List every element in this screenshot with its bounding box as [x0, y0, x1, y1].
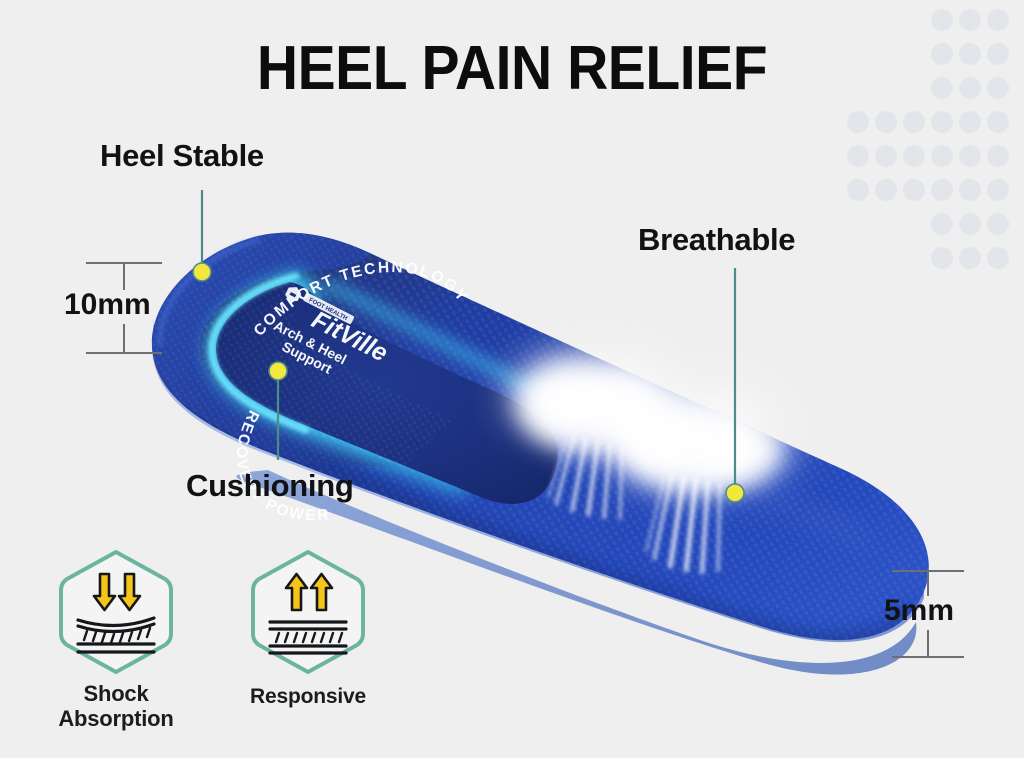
heel-cup-glow	[208, 272, 506, 494]
feature-caption-line-2: Absorption	[36, 707, 196, 732]
vapor-overspill	[530, 358, 776, 456]
callout-label-heel-stable: Heel Stable	[100, 138, 264, 174]
insole-badge-bar	[303, 292, 355, 325]
feature-responsive: Responsive	[228, 548, 388, 709]
callout-label-cushioning: Cushioning	[186, 468, 353, 504]
feature-shock-absorption: Shock Absorption	[36, 548, 196, 731]
dimension-value-forefoot: 5mm	[884, 594, 954, 628]
heel-cup-glow-edge	[212, 276, 306, 430]
dimension-value-heel: 10mm	[64, 288, 151, 322]
feature-caption-line-1: Responsive	[228, 685, 388, 709]
responsive-hex	[245, 548, 371, 676]
insole-print-top-arc: COMFORT TECHNOLOGY	[249, 258, 472, 340]
feature-caption-shock-absorption: Shock Absorption	[36, 682, 196, 731]
callout-dot-breathable	[726, 484, 744, 502]
dimension-marker-heel: 10mm	[64, 258, 204, 358]
leader-line-breathable	[726, 268, 744, 502]
insole-badge	[283, 284, 303, 305]
page-title: HEEL PAIN RELIEF	[41, 38, 983, 100]
dimension-marker-forefoot: 5mm	[886, 566, 1006, 662]
insole-sub-1: Arch & Heel	[271, 317, 349, 367]
insole-brand: FitVille	[307, 306, 392, 368]
heel-cup-glow-edge-outer	[330, 286, 560, 404]
hexagon-outline	[61, 552, 171, 672]
feature-caption-responsive: Responsive	[228, 685, 388, 709]
leader-line-cushioning	[269, 362, 287, 460]
callout-dot-cushioning	[269, 362, 287, 380]
insole-badge-text: FOOT HEALTH	[308, 297, 348, 322]
feature-caption-line-1: Shock	[36, 682, 196, 707]
callout-label-breathable: Breathable	[638, 222, 795, 258]
insole-sub-2: Support	[279, 338, 334, 377]
shock-absorption-hex	[53, 548, 179, 676]
insole-print-bottom-arc: RECOVERY POWER	[233, 407, 331, 524]
infographic-canvas: COMFORT TECHNOLOGY RECOVERY POWER FOOT H…	[0, 0, 1024, 758]
vapor-effect	[510, 352, 796, 574]
